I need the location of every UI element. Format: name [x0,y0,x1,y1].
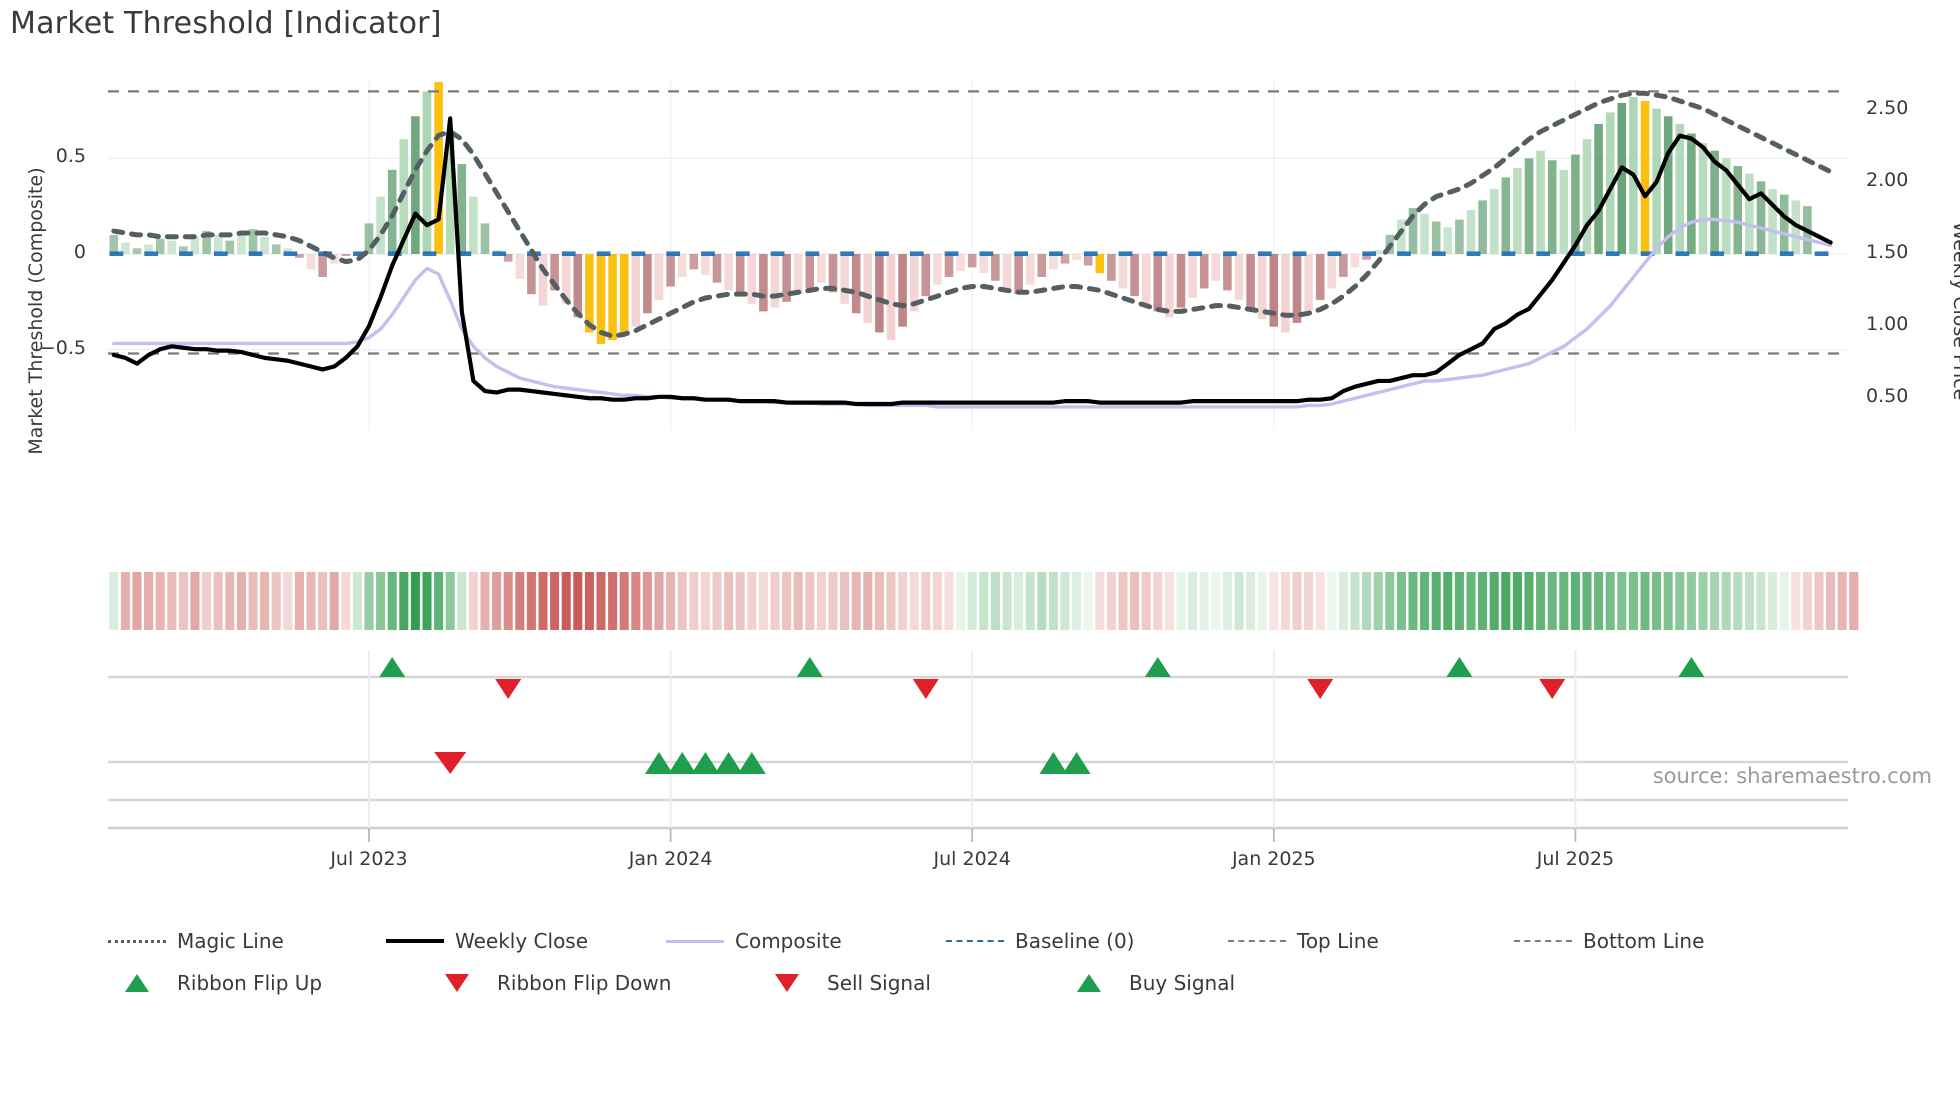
ribbon-cell [944,572,953,630]
legend-key-line-icon [1514,931,1572,951]
composite-bar [434,82,443,254]
composite-bar [1212,254,1221,281]
composite-bar [1768,189,1777,254]
composite-bar [214,235,223,254]
composite-bar [817,254,826,283]
legend-key-triangle-up-icon [108,973,166,993]
composite-bar [237,233,246,254]
ribbon-cell [620,572,629,630]
ribbon-cell [469,572,478,630]
legend-item-buy-signal[interactable]: Buy Signal [1060,971,1360,995]
ribbon-cell [109,572,118,630]
baseline-tick [1014,251,1028,256]
baseline-tick [1084,251,1098,256]
composite-bar [1072,254,1081,260]
composite-bar [1304,254,1313,311]
composite-bar [1525,158,1534,254]
legend-item-top-line[interactable]: Top Line [1228,929,1504,953]
ribbon-cell [1130,572,1139,630]
composite-bar [1165,254,1174,317]
baseline-tick [771,251,785,256]
baseline-tick [284,251,298,256]
ribbon-flip-down-marker [1307,679,1333,699]
ribbon-cell [1165,572,1174,630]
baseline-tick [1258,251,1272,256]
composite-bar [678,254,687,277]
y-tick-right-4: 0.50 [1866,385,1956,407]
legend-row-markers: Ribbon Flip UpRibbon Flip DownSell Signa… [108,962,1868,1004]
ribbon-cell [121,572,130,630]
ribbon-cell [1292,572,1301,630]
ribbon-cell [1582,572,1591,630]
ribbon-cell [1803,572,1812,630]
composite-bar [318,254,327,277]
composite-bar [1594,124,1603,254]
ribbon-cell [341,572,350,630]
x-tick-0: Jul 2023 [289,848,449,870]
composite-bar [1328,254,1337,288]
ribbon-cell [504,572,513,630]
legend-line-swatch [1514,940,1572,942]
ribbon-cell [295,572,304,630]
ribbon-cell [956,572,965,630]
composite-bar [933,254,942,285]
composite-bar [539,254,548,306]
ribbon-cell [1153,572,1162,630]
y-tick-right-3: 1.00 [1866,313,1956,335]
composite-bar [1107,254,1116,281]
baseline-tick [1397,251,1411,256]
composite-bar [1223,254,1232,290]
legend-item-weekly-close[interactable]: Weekly Close [386,929,656,953]
ribbon-cell [1002,572,1011,630]
ribbon-cell [979,572,988,630]
composite-bar [1444,227,1453,254]
triangle-up-icon [125,974,149,992]
composite-bar [1548,160,1557,254]
ribbon-cell [1397,572,1406,630]
ribbon-cell [1176,572,1185,630]
composite-bar [1235,254,1244,300]
ribbon-cell [306,572,315,630]
ribbon-cell [1188,572,1197,630]
legend-item-ribbon-flip-up[interactable]: Ribbon Flip Up [108,971,418,995]
ribbon-flip-down-marker [495,679,521,699]
composite-bar [1490,189,1499,254]
ribbon-cell [968,572,977,630]
composite-bar [713,254,722,283]
ribbon-cell [1095,572,1104,630]
ribbon-cell [1072,572,1081,630]
composite-bar [307,254,316,269]
composite-bar [1177,254,1186,308]
ribbon-cell [190,572,199,630]
ribbon-cell [910,572,919,630]
composite-bar [1200,254,1209,288]
baseline-tick [910,251,924,256]
ribbon-cell [1385,572,1394,630]
ribbon-cell [1571,572,1580,630]
legend-item-bottom-line[interactable]: Bottom Line [1514,929,1794,953]
composite-bar [1258,254,1267,319]
triangle-up-icon [1077,974,1101,992]
ribbon-cell [179,572,188,630]
composite-bar [1339,254,1348,277]
composite-bar [1502,177,1511,254]
composite-bar [1455,220,1464,254]
ribbon-cell [933,572,942,630]
legend-label: Composite [735,929,842,953]
composite-bar [806,254,815,288]
ribbon-cell [376,572,385,630]
ribbon-cell [840,572,849,630]
ribbon-cell [817,572,826,630]
legend-line-swatch [386,939,444,943]
ribbon-cell [1814,572,1823,630]
ribbon-cell [1362,572,1371,630]
ribbon-cell [364,572,373,630]
ribbon-cell [585,572,594,630]
x-tick-1: Jan 2024 [591,848,751,870]
ribbon-cell [991,572,1000,630]
baseline-tick [1780,251,1794,256]
composite-bar [945,254,954,277]
ribbon-cell [1223,572,1232,630]
composite-bar [968,254,977,267]
composite-bar [690,254,699,269]
ribbon-cell [399,572,408,630]
composite-bar [666,254,675,287]
ribbon-cell [1258,572,1267,630]
ribbon-cell [1826,572,1835,630]
ribbon-cell [886,572,895,630]
composite-bar [469,197,478,254]
ribbon-cell [678,572,687,630]
ribbon-cell [631,572,640,630]
legend-key-line-icon [386,931,444,951]
baseline-tick [945,251,959,256]
ribbon-cell [457,572,466,630]
ribbon-cell [1443,572,1452,630]
composite-bar [724,254,733,290]
baseline-tick [666,251,680,256]
baseline-tick [1432,251,1446,256]
baseline-tick [1710,251,1724,256]
legend-key-line-icon [108,931,166,951]
ribbon-cell [863,572,872,630]
composite-bar [1420,214,1429,254]
ribbon-cell [1339,572,1348,630]
ribbon-cell [237,572,246,630]
composite-bar [1351,254,1360,267]
ribbon-cell [202,572,211,630]
ribbon-cell [1675,572,1684,630]
ribbon-cell [1501,572,1510,630]
ribbon-cell [1617,572,1626,630]
ribbon-cell [794,572,803,630]
legend-item-sell-signal[interactable]: Sell Signal [758,971,1050,995]
ribbon-cell [1536,572,1545,630]
legend-label: Bottom Line [1583,929,1704,953]
composite-bar [1560,170,1569,254]
legend-label: Weekly Close [455,929,588,953]
legend-item-baseline-0[interactable]: Baseline (0) [946,929,1218,953]
ribbon-cell [272,572,281,630]
ribbon-flip-up-marker [1145,657,1171,677]
ribbon-cell [712,572,721,630]
ribbon-cell [654,572,663,630]
ribbon-cell [1559,572,1568,630]
ribbon-cell [1524,572,1533,630]
composite-bar [701,254,710,275]
ribbon-cell [875,572,884,630]
composite-bar [887,254,896,340]
legend-item-ribbon-flip-down[interactable]: Ribbon Flip Down [428,971,748,995]
ribbon-cell [1142,572,1151,630]
ribbon-cell [1722,572,1731,630]
composite-bar [771,254,780,308]
baseline-tick [875,251,889,256]
ribbon-cell [480,572,489,630]
ribbon-cell [643,572,652,630]
ribbon-cell [1455,572,1464,630]
ribbon-cell [689,572,698,630]
composite-bar [1583,139,1592,254]
ribbon-cell [1200,572,1209,630]
baseline-tick [249,251,263,256]
ribbon-cell [1084,572,1093,630]
baseline-tick [492,251,506,256]
ribbon-cell [1687,572,1696,630]
composite-bar [481,223,490,254]
composite-bar [736,254,745,296]
legend-item-composite[interactable]: Composite [666,929,936,953]
legend-label: Ribbon Flip Down [497,971,671,995]
composite-bar [655,254,664,300]
ribbon-flip-up-marker [797,657,823,677]
ribbon-cell [898,572,907,630]
baseline-tick [214,251,228,256]
ribbon-cell [1118,572,1127,630]
ribbon-cell [411,572,420,630]
ribbon-cell [446,572,455,630]
baseline-tick [632,251,646,256]
ribbon-cell [1026,572,1035,630]
composite-bar [1687,133,1696,254]
ribbon-cell [1316,572,1325,630]
ribbon-cell [747,572,756,630]
legend-label: Baseline (0) [1015,929,1134,953]
triangle-down-icon [775,974,799,992]
ribbon-cell [1710,572,1719,630]
composite-bar [110,235,119,254]
ribbon-cell [1548,572,1557,630]
ribbon-cell [1432,572,1441,630]
y-tick-right-0: 2.50 [1866,97,1956,119]
ribbon-cell [388,572,397,630]
y-tick-left-1: 0 [6,241,86,263]
baseline-tick [701,251,715,256]
composite-bar [1745,174,1754,254]
legend-key-triangle-down-icon [758,973,816,993]
ribbon-cell [214,572,223,630]
ribbon-cell [1838,572,1847,630]
ribbon-cell [1768,572,1777,630]
ribbon-cell [1350,572,1359,630]
composite-bar [759,254,768,311]
ribbon-cell [1791,572,1800,630]
composite-bar [875,254,884,332]
legend-key-triangle-up-icon [1060,973,1118,993]
baseline-tick [1362,251,1376,256]
composite-bar [991,254,1000,281]
composite-bar [1536,151,1545,254]
y-tick-left-2: −0.5 [6,337,86,359]
baseline-tick [110,251,124,256]
ribbon-cell [1490,572,1499,630]
ribbon-cell [1420,572,1429,630]
ribbon-flip-up-marker [1446,657,1472,677]
ribbon-cell [225,572,234,630]
composite-bar [1281,254,1290,332]
composite-bar [1026,254,1035,285]
ribbon-cell [1281,572,1290,630]
ribbon-cell [434,572,443,630]
composite-bar [1188,254,1197,298]
composite-bar [527,254,536,294]
ribbon-cell [1756,572,1765,630]
composite-bar [1316,254,1325,300]
ribbon-cell [1849,572,1858,630]
composite-bar [411,116,420,254]
composite-bar [133,248,142,254]
composite-bar [632,254,641,327]
ribbon-cell [1246,572,1255,630]
baseline-tick [144,251,158,256]
legend-line-swatch [666,940,724,943]
composite-bar [1467,210,1476,254]
ribbon-cell [1606,572,1615,630]
ribbon-cell [770,572,779,630]
x-tick-2: Jul 2024 [892,848,1052,870]
composite-bar [922,254,931,296]
ribbon-cell [1049,572,1058,630]
baseline-tick [1536,251,1550,256]
ribbon-cell [736,572,745,630]
composite-bar [1780,195,1789,254]
baseline-tick [1502,251,1516,256]
ribbon-flip-down-marker [1539,679,1565,699]
legend-label: Buy Signal [1129,971,1235,995]
ribbon-cell [538,572,547,630]
legend-label: Sell Signal [827,971,931,995]
composite-bar [1038,254,1047,277]
ribbon-cell [1408,572,1417,630]
ribbon-cell [144,572,153,630]
legend-key-line-icon [946,931,1004,951]
baseline-tick [597,251,611,256]
ribbon-cell [515,572,524,630]
composite-bar [1641,101,1650,254]
ribbon-cell [701,572,710,630]
ribbon-cell [492,572,501,630]
legend-key-line-icon [1228,931,1286,951]
legend-label: Magic Line [177,929,284,953]
ribbon-flip-up-marker [1678,657,1704,677]
ribbon-cell [852,572,861,630]
ribbon-cell [248,572,257,630]
legend-line-swatch [1228,940,1286,942]
ribbon-flip-up-marker [379,657,405,677]
composite-bar [864,254,873,323]
composite-bar [1699,143,1708,254]
ribbon-cell [1629,572,1638,630]
baseline-tick [179,251,193,256]
ribbon-cell [1374,572,1383,630]
baseline-tick [1188,251,1202,256]
composite-bar [423,91,432,254]
ribbon-cell [1466,572,1475,630]
composite-bar [1130,254,1139,296]
legend-item-magic-line[interactable]: Magic Line [108,929,376,953]
legend-line-swatch [946,940,1004,942]
ribbon-cell [132,572,141,630]
ribbon-cell [1698,572,1707,630]
composite-bar [898,254,907,327]
composite-bar [608,254,617,340]
composite-bar [168,241,177,254]
baseline-tick [1154,251,1168,256]
ribbon-cell [353,572,362,630]
ribbon-flip-down-marker [913,679,939,699]
ribbon-cell [318,572,327,630]
ribbon-cell [167,572,176,630]
ribbon-cell [1107,572,1116,630]
composite-bar [1119,254,1128,288]
composite-bar [956,254,965,271]
composite-bar [272,244,281,254]
baseline-tick [1049,251,1063,256]
ribbon-cell [1060,572,1069,630]
baseline-tick [806,251,820,256]
ribbon-cell [921,572,930,630]
ribbon-cell [828,572,837,630]
composite-bar [620,254,629,334]
baseline-tick [840,251,854,256]
composite-bar [365,223,374,254]
baseline-tick [1606,251,1620,256]
x-tick-3: Jan 2025 [1194,848,1354,870]
composite-bar [1096,254,1105,273]
composite-bar [1014,254,1023,294]
ribbon-cell [782,572,791,630]
ribbon-cell [330,572,339,630]
composite-bar [1154,254,1163,311]
ribbon-cell [1745,572,1754,630]
x-tick-4: Jul 2025 [1495,848,1655,870]
chart-legend: Magic LineWeekly CloseCompositeBaseline … [108,920,1868,1004]
ribbon-cell [1594,572,1603,630]
composite-bar [1432,221,1441,254]
baseline-tick [736,251,750,256]
composite-bar [1049,254,1058,269]
composite-bar [342,254,351,256]
baseline-tick [980,251,994,256]
ribbon-cell [724,572,733,630]
legend-row-lines: Magic LineWeekly CloseCompositeBaseline … [108,920,1868,962]
baseline-tick [1328,251,1342,256]
ribbon-cell [805,572,814,630]
